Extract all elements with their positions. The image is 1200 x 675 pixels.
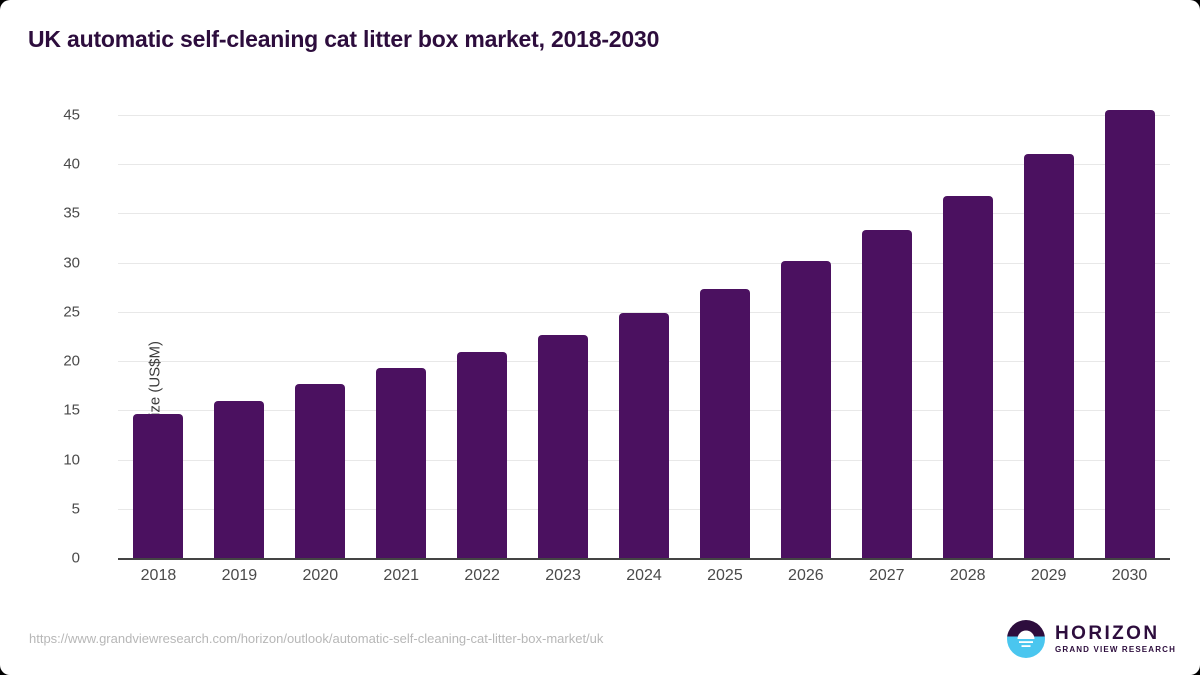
x-tick-label: 2023	[523, 567, 603, 585]
x-tick-label: 2022	[442, 567, 522, 585]
x-tick-label: 2025	[685, 567, 765, 585]
bar[interactable]	[376, 368, 426, 558]
horizon-sun-circle-icon	[1006, 619, 1046, 659]
horizon-logo-word: HORIZON	[1055, 624, 1176, 643]
chart-card: UK automatic self-cleaning cat litter bo…	[0, 0, 1200, 675]
bar[interactable]	[862, 230, 912, 558]
y-tick-label: 0	[20, 550, 80, 567]
x-tick-label: 2028	[928, 567, 1008, 585]
x-tick-label: 2030	[1090, 567, 1170, 585]
y-tick-label: 10	[20, 451, 80, 468]
horizon-logo: HORIZON GRAND VIEW RESEARCH	[1006, 618, 1176, 660]
x-tick-label: 2029	[1009, 567, 1089, 585]
bar[interactable]	[457, 352, 507, 558]
chart-plot-wrapper: 051015202530354045 Market Size (US$M) 20…	[0, 0, 1200, 675]
y-tick-label: 5	[20, 500, 80, 517]
x-tick-label: 2018	[118, 567, 198, 585]
bar[interactable]	[538, 335, 588, 558]
bar[interactable]	[700, 289, 750, 558]
plot-area: 051015202530354045 Market Size (US$M) 20…	[118, 115, 1170, 558]
x-axis-line	[118, 558, 1170, 560]
bar[interactable]	[295, 384, 345, 558]
bar[interactable]	[781, 261, 831, 558]
x-tick-label: 2024	[604, 567, 684, 585]
bar[interactable]	[1105, 110, 1155, 558]
bar[interactable]	[619, 313, 669, 558]
source-url[interactable]: https://www.grandviewresearch.com/horizo…	[29, 631, 603, 646]
bar[interactable]	[943, 196, 993, 558]
y-tick-label: 35	[20, 205, 80, 222]
y-tick-label: 25	[20, 303, 80, 320]
horizon-logo-subtitle: GRAND VIEW RESEARCH	[1055, 646, 1176, 654]
y-tick-label: 45	[20, 107, 80, 124]
y-tick-label: 20	[20, 353, 80, 370]
bar[interactable]	[214, 401, 264, 559]
x-tick-label: 2027	[847, 567, 927, 585]
y-tick-label: 15	[20, 402, 80, 419]
x-tick-label: 2019	[199, 567, 279, 585]
x-tick-label: 2020	[280, 567, 360, 585]
y-tick-label: 30	[20, 254, 80, 271]
x-tick-label: 2021	[361, 567, 441, 585]
bar[interactable]	[133, 414, 183, 558]
y-tick-label: 40	[20, 156, 80, 173]
x-tick-label: 2026	[766, 567, 846, 585]
bar-series	[118, 115, 1170, 558]
horizon-logo-text: HORIZON GRAND VIEW RESEARCH	[1055, 624, 1176, 654]
bar[interactable]	[1024, 154, 1074, 558]
